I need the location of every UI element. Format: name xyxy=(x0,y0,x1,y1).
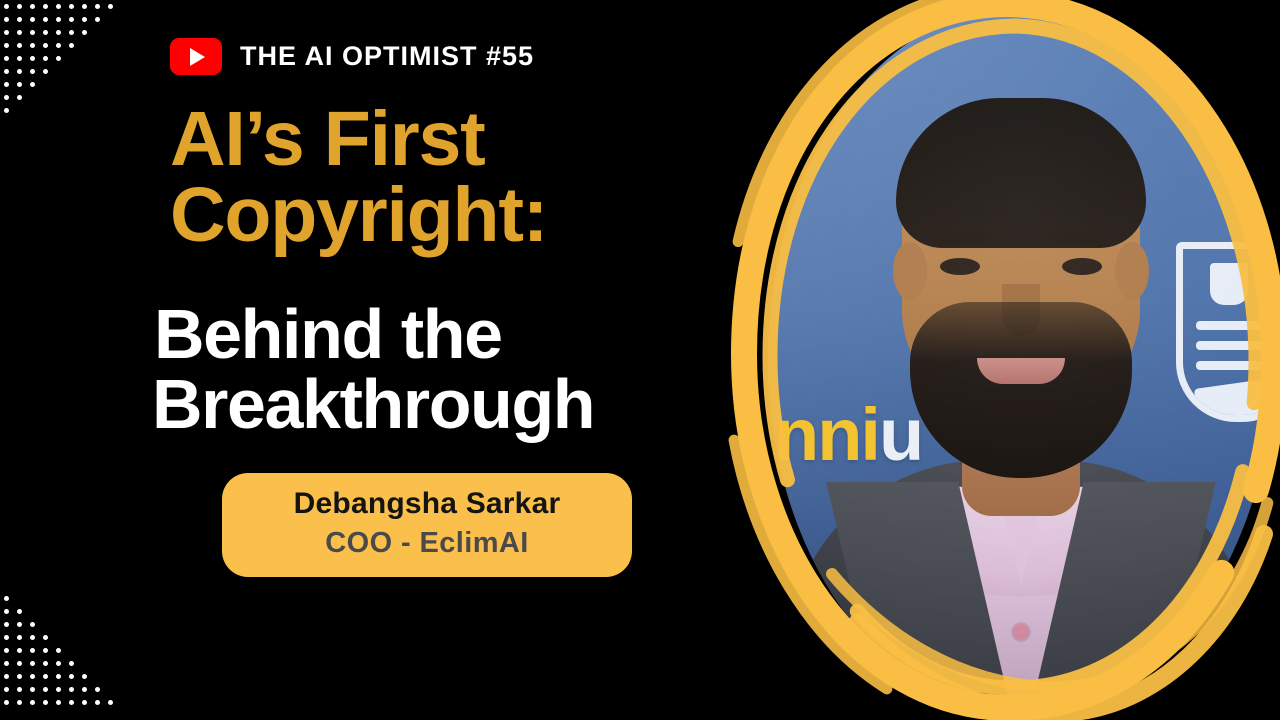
channel-row: THE AI OPTIMIST #55 xyxy=(170,38,660,75)
speaker-role: COO - EclimAI xyxy=(240,526,614,561)
brush-circle-frame-icon xyxy=(708,0,1280,720)
portrait-area: nniu xyxy=(690,0,1280,720)
youtube-play-icon[interactable] xyxy=(170,38,222,75)
headline-white-line-2: Breakthrough xyxy=(152,369,660,439)
speaker-badge: Debangsha Sarkar COO - EclimAI xyxy=(222,473,632,576)
speaker-name: Debangsha Sarkar xyxy=(240,487,614,522)
headline-white-line-1: Behind the xyxy=(154,299,660,369)
headline-primary: AI’s First Copyright: xyxy=(170,101,660,253)
video-thumbnail: THE AI OPTIMIST #55 AI’s First Copyright… xyxy=(0,0,1280,720)
play-triangle-icon xyxy=(190,48,205,66)
channel-episode-label: THE AI OPTIMIST #55 xyxy=(240,43,534,70)
text-column: THE AI OPTIMIST #55 AI’s First Copyright… xyxy=(0,0,700,720)
headline-secondary: Behind the Breakthrough xyxy=(154,299,660,439)
headline-gold-line-2: Copyright: xyxy=(170,172,547,258)
headline-gold-line-1: AI’s First xyxy=(170,96,485,182)
